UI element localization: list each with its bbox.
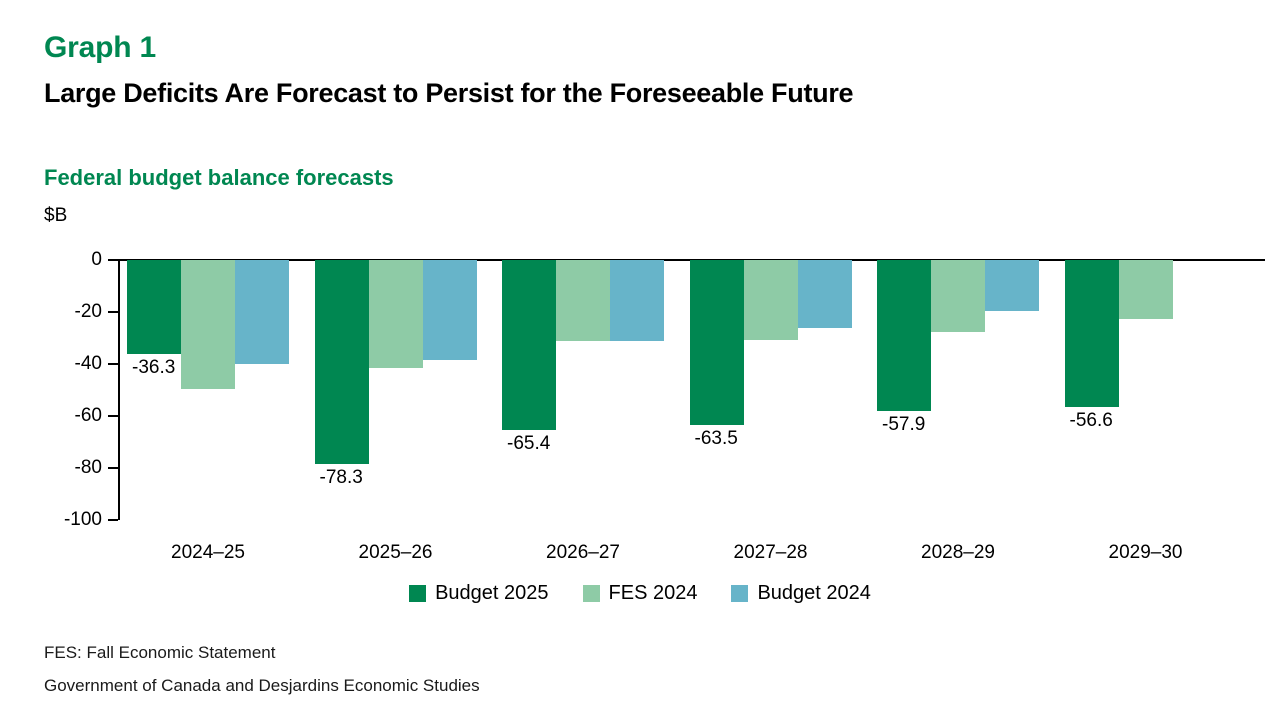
bar-fes-2024 bbox=[1119, 260, 1173, 319]
x-axis-category-label: 2024–25 bbox=[171, 542, 245, 564]
chart-legend: Budget 2025FES 2024Budget 2024 bbox=[0, 582, 1280, 605]
chart-page: Graph 1 Large Deficits Are Forecast to P… bbox=[0, 0, 1280, 720]
legend-label: FES 2024 bbox=[609, 582, 698, 605]
bar-fes-2024 bbox=[369, 260, 423, 368]
legend-swatch-icon bbox=[583, 585, 600, 602]
bar-budget-2024 bbox=[985, 260, 1039, 311]
y-axis-tick-label: 0 bbox=[91, 249, 102, 271]
y-axis-tick-label: -100 bbox=[64, 509, 102, 531]
legend-swatch-icon bbox=[731, 585, 748, 602]
x-axis-category-label: 2027–28 bbox=[734, 542, 808, 564]
bar-value-label: -65.4 bbox=[507, 433, 550, 455]
y-axis-line bbox=[118, 259, 120, 520]
bar-budget-2025 bbox=[502, 260, 556, 430]
y-axis-tick-label: -20 bbox=[75, 301, 102, 323]
bar-value-label: -63.5 bbox=[695, 428, 738, 450]
legend-label: Budget 2025 bbox=[435, 582, 548, 605]
bar-value-label: -56.6 bbox=[1070, 410, 1113, 432]
bar-budget-2024 bbox=[610, 260, 664, 341]
x-axis-category-label: 2026–27 bbox=[546, 542, 620, 564]
y-axis-tick bbox=[108, 415, 118, 417]
bar-fes-2024 bbox=[556, 260, 610, 341]
bar-budget-2025 bbox=[315, 260, 369, 464]
legend-item[interactable]: Budget 2025 bbox=[409, 582, 548, 605]
y-axis-tick-label: -80 bbox=[75, 457, 102, 479]
bar-budget-2024 bbox=[423, 260, 477, 360]
bar-value-label: -57.9 bbox=[882, 414, 925, 436]
y-axis-tick bbox=[108, 467, 118, 469]
legend-item[interactable]: Budget 2024 bbox=[731, 582, 870, 605]
x-axis-category-label: 2028–29 bbox=[921, 542, 995, 564]
bar-fes-2024 bbox=[744, 260, 798, 340]
y-axis-tick bbox=[108, 519, 118, 521]
bar-budget-2025 bbox=[1065, 260, 1119, 407]
x-axis-category-label: 2029–30 bbox=[1109, 542, 1183, 564]
y-axis-tick bbox=[108, 363, 118, 365]
legend-label: Budget 2024 bbox=[757, 582, 870, 605]
legend-item[interactable]: FES 2024 bbox=[583, 582, 698, 605]
bar-budget-2025 bbox=[127, 260, 181, 354]
bar-fes-2024 bbox=[181, 260, 235, 389]
bar-budget-2025 bbox=[877, 260, 931, 411]
footnote-source: Government of Canada and Desjardins Econ… bbox=[44, 676, 480, 696]
bar-budget-2024 bbox=[235, 260, 289, 364]
footnote-abbreviation: FES: Fall Economic Statement bbox=[44, 643, 275, 663]
y-axis-tick-label: -60 bbox=[75, 405, 102, 427]
plot-area: 0-20-40-60-80-100-36.32024–25-78.32025–2… bbox=[0, 0, 1280, 720]
bar-value-label: -36.3 bbox=[132, 357, 175, 379]
x-axis-category-label: 2025–26 bbox=[359, 542, 433, 564]
bar-fes-2024 bbox=[931, 260, 985, 332]
y-axis-tick-label: -40 bbox=[75, 353, 102, 375]
y-axis-tick bbox=[108, 259, 118, 261]
bar-budget-2025 bbox=[690, 260, 744, 425]
y-axis-tick bbox=[108, 311, 118, 313]
legend-swatch-icon bbox=[409, 585, 426, 602]
bar-budget-2024 bbox=[798, 260, 852, 328]
bar-value-label: -78.3 bbox=[320, 467, 363, 489]
